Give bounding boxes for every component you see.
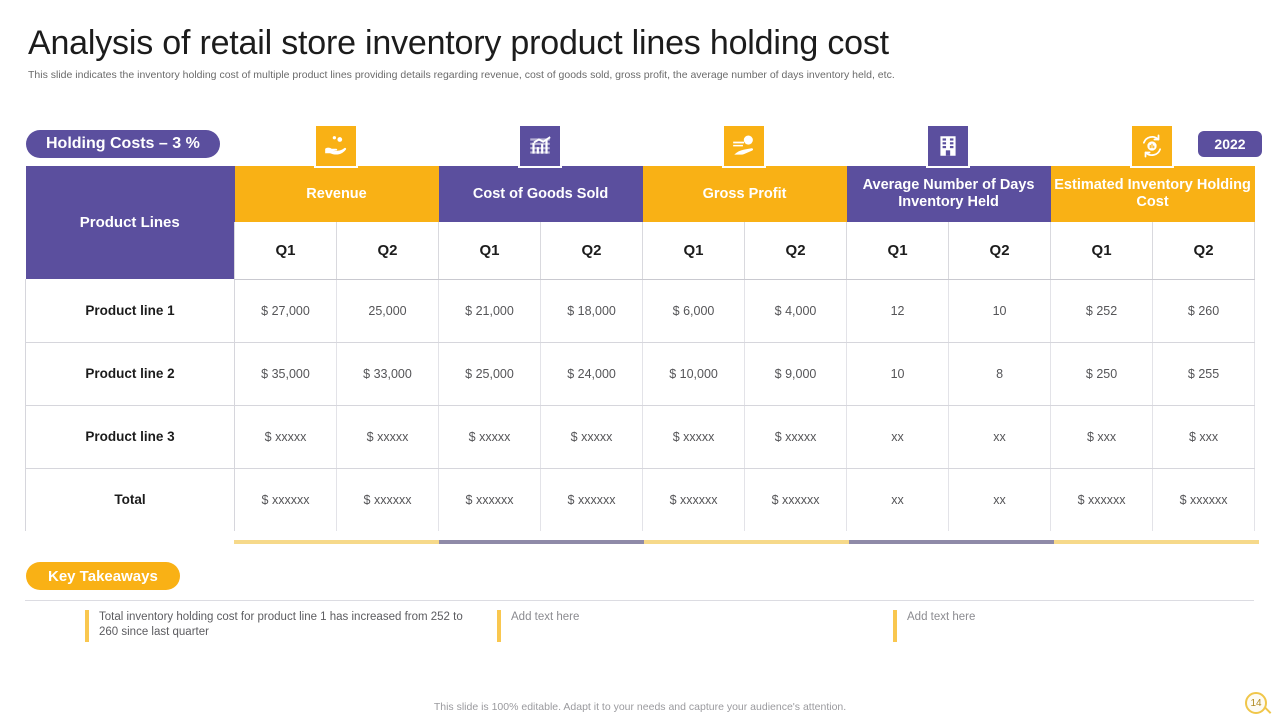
quarter-header: Q2 bbox=[541, 222, 643, 279]
group-header-average-days-inventory-held: Average Number of Days Inventory Held bbox=[847, 166, 1051, 222]
group-header-cost-of-goods-sold: Cost of Goods Sold bbox=[439, 166, 643, 222]
quarter-header: Q2 bbox=[745, 222, 847, 279]
warehouse-building-icon bbox=[926, 124, 970, 168]
page-title: Analysis of retail store inventory produ… bbox=[28, 20, 889, 66]
table-cell: $ 21,000 bbox=[439, 279, 541, 342]
table-cell: $ xxxxxx bbox=[541, 468, 643, 531]
row-label: Product line 2 bbox=[26, 342, 235, 405]
table-cell: $ 24,000 bbox=[541, 342, 643, 405]
table-cell: $ 35,000 bbox=[235, 342, 337, 405]
table-cell: $ xxxxx bbox=[439, 405, 541, 468]
table-cell: $ xxxxxx bbox=[745, 468, 847, 531]
table-cell: $ xxxxx bbox=[643, 405, 745, 468]
key-takeaway-text[interactable]: Add text here bbox=[907, 610, 975, 642]
table-cell: xx bbox=[847, 468, 949, 531]
row-label: Total bbox=[26, 468, 235, 531]
quarter-header: Q1 bbox=[439, 222, 541, 279]
table-cell: $ 9,000 bbox=[745, 342, 847, 405]
table-cell: $ 10,000 bbox=[643, 342, 745, 405]
table-cell: $ 255 bbox=[1153, 342, 1255, 405]
table-cell: xx bbox=[847, 405, 949, 468]
key-takeaway-text[interactable]: Add text here bbox=[511, 610, 579, 642]
row-label: Product line 1 bbox=[26, 279, 235, 342]
table-row-total: Total $ xxxxxx $ xxxxxx $ xxxxxx $ xxxxx… bbox=[26, 468, 1255, 531]
accent-bar-icon bbox=[893, 610, 897, 642]
table-cell: $ xxxxxx bbox=[1153, 468, 1255, 531]
group-header-revenue: Revenue bbox=[235, 166, 439, 222]
table-cell: 25,000 bbox=[337, 279, 439, 342]
key-takeaway-text: Total inventory holding cost for product… bbox=[99, 610, 485, 642]
key-takeaways-divider bbox=[25, 600, 1254, 601]
table-cell: $ 252 bbox=[1051, 279, 1153, 342]
year-label: 2022 bbox=[1214, 136, 1245, 152]
table-row: Product line 3 $ xxxxx $ xxxxx $ xxxxx $… bbox=[26, 405, 1255, 468]
table-cell: 10 bbox=[847, 342, 949, 405]
table-cell: $ 4,000 bbox=[745, 279, 847, 342]
holding-costs-badge: Holding Costs – 3 % bbox=[26, 130, 220, 158]
page-number-label: 14 bbox=[1250, 698, 1261, 709]
table-cell: $ xxxxx bbox=[541, 405, 643, 468]
key-takeaways-label: Key Takeaways bbox=[48, 568, 158, 585]
quarter-header: Q1 bbox=[643, 222, 745, 279]
bar-chart-icon bbox=[518, 124, 562, 168]
quarter-header: Q2 bbox=[949, 222, 1051, 279]
holding-costs-label: Holding Costs – 3 % bbox=[46, 135, 200, 153]
money-profit-icon bbox=[722, 124, 766, 168]
table-cell: $ xxx bbox=[1051, 405, 1153, 468]
table-cell: $ 27,000 bbox=[235, 279, 337, 342]
quarter-header: Q1 bbox=[235, 222, 337, 279]
year-badge: 2022 bbox=[1198, 131, 1262, 157]
table-cell: $ xxx bbox=[1153, 405, 1255, 468]
group-header-gross-profit: Gross Profit bbox=[643, 166, 847, 222]
row-label: Product line 3 bbox=[26, 405, 235, 468]
table-cell: $ xxxxx bbox=[235, 405, 337, 468]
table-row: Product line 1 $ 27,000 25,000 $ 21,000 … bbox=[26, 279, 1255, 342]
table-cell: 8 bbox=[949, 342, 1051, 405]
page-number-badge: 14 bbox=[1245, 692, 1267, 714]
table-cell: $ 25,000 bbox=[439, 342, 541, 405]
accent-bar-icon bbox=[497, 610, 501, 642]
table-cell: $ 18,000 bbox=[541, 279, 643, 342]
table-cell: xx bbox=[949, 405, 1051, 468]
quarter-header: Q1 bbox=[847, 222, 949, 279]
table-group-header-row: Product Lines Revenue Cost of Goods Sold… bbox=[26, 166, 1255, 222]
table-cell: xx bbox=[949, 468, 1051, 531]
table-cell: 10 bbox=[949, 279, 1051, 342]
table-cell: $ xxxxxx bbox=[439, 468, 541, 531]
table-cell: $ xxxxxx bbox=[337, 468, 439, 531]
hand-coins-icon bbox=[314, 124, 358, 168]
table-underline-bar bbox=[234, 540, 1259, 544]
table-cell: $ 250 bbox=[1051, 342, 1153, 405]
key-takeaway-item: Total inventory holding cost for product… bbox=[85, 610, 485, 642]
table-cell: $ 33,000 bbox=[337, 342, 439, 405]
table-row: Product line 2 $ 35,000 $ 33,000 $ 25,00… bbox=[26, 342, 1255, 405]
page-subtitle: This slide indicates the inventory holdi… bbox=[28, 68, 895, 82]
product-lines-header: Product Lines bbox=[26, 166, 235, 279]
table-cell: $ xxxxxx bbox=[1051, 468, 1153, 531]
table-cell: $ 6,000 bbox=[643, 279, 745, 342]
slide-root: Analysis of retail store inventory produ… bbox=[0, 0, 1280, 720]
inventory-table: Product Lines Revenue Cost of Goods Sold… bbox=[25, 166, 1254, 531]
quarter-header: Q2 bbox=[1153, 222, 1255, 279]
table-cell: 12 bbox=[847, 279, 949, 342]
inventory-cycle-icon bbox=[1130, 124, 1174, 168]
table-cell: $ xxxxxx bbox=[235, 468, 337, 531]
quarter-header: Q1 bbox=[1051, 222, 1153, 279]
group-header-estimated-inventory-holding-cost: Estimated Inventory Holding Cost bbox=[1051, 166, 1255, 222]
table-cell: $ xxxxx bbox=[337, 405, 439, 468]
key-takeaways-badge: Key Takeaways bbox=[26, 562, 180, 590]
key-takeaway-item[interactable]: Add text here bbox=[497, 610, 887, 642]
key-takeaway-item[interactable]: Add text here bbox=[893, 610, 1253, 642]
accent-bar-icon bbox=[85, 610, 89, 642]
quarter-header: Q2 bbox=[337, 222, 439, 279]
table-cell: $ xxxxxx bbox=[643, 468, 745, 531]
table-cell: $ 260 bbox=[1153, 279, 1255, 342]
product-lines-label: Product Lines bbox=[80, 214, 180, 231]
table-cell: $ xxxxx bbox=[745, 405, 847, 468]
footer-note: This slide is 100% editable. Adapt it to… bbox=[0, 701, 1280, 713]
